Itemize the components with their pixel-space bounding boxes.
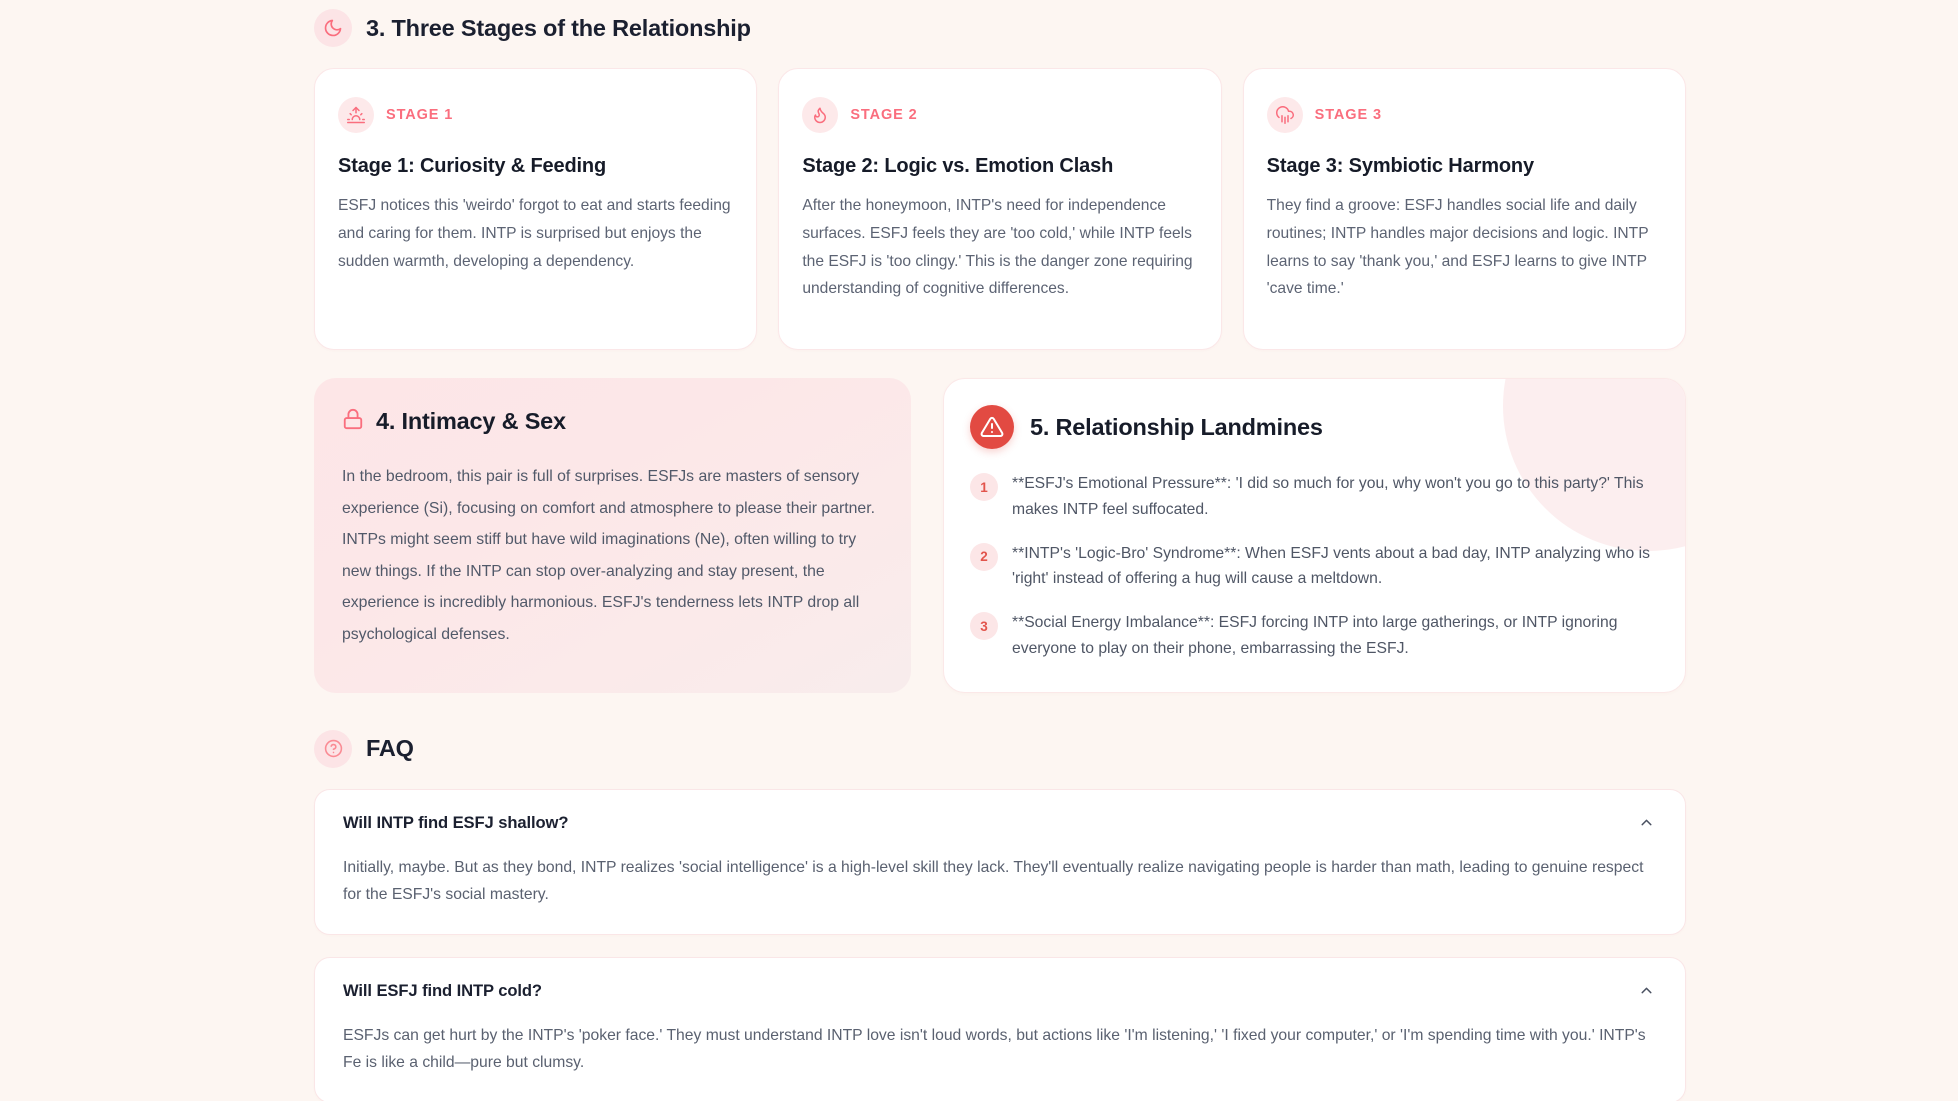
landmine-item: 1 **ESFJ's Emotional Pressure**: 'I did … <box>970 471 1655 523</box>
stage-3-body: They find a groove: ESFJ handles social … <box>1267 192 1662 303</box>
moon-icon <box>314 9 352 47</box>
faq-answer: Initially, maybe. But as they bond, INTP… <box>343 854 1657 908</box>
landmine-item: 2 **INTP's 'Logic-Bro' Syndrome**: When … <box>970 541 1655 593</box>
stage-2-tag: STAGE 2 <box>802 97 1197 133</box>
intimacy-card: 4. Intimacy & Sex In the bedroom, this p… <box>314 378 911 693</box>
stage-1-label: STAGE 1 <box>386 107 453 123</box>
stage-2-title: Stage 2: Logic vs. Emotion Clash <box>802 155 1197 178</box>
stage-card-2: STAGE 2 Stage 2: Logic vs. Emotion Clash… <box>778 68 1221 350</box>
sunrise-icon <box>338 97 374 133</box>
stage-2-body: After the honeymoon, INTP's need for ind… <box>802 192 1197 303</box>
stage-1-body: ESFJ notices this 'weirdo' forgot to eat… <box>338 192 733 275</box>
faq-list: Will INTP find ESFJ shallow? Initially, … <box>314 789 1686 1101</box>
flame-icon <box>802 97 838 133</box>
intimacy-title: 4. Intimacy & Sex <box>376 408 566 435</box>
lock-icon <box>342 408 364 435</box>
stage-card-1: STAGE 1 Stage 1: Curiosity & Feeding ESF… <box>314 68 757 350</box>
faq-question: Will ESFJ find INTP cold? <box>343 981 542 1001</box>
stage-1-title: Stage 1: Curiosity & Feeding <box>338 155 733 178</box>
landmine-number-badge: 2 <box>970 543 998 571</box>
stage-3-label: STAGE 3 <box>1315 107 1382 123</box>
stage-card-3: STAGE 3 Stage 3: Symbiotic Harmony They … <box>1243 68 1686 350</box>
landmines-card: 5. Relationship Landmines 1 **ESFJ's Emo… <box>943 378 1686 693</box>
landmine-item: 3 **Social Energy Imbalance**: ESFJ forc… <box>970 610 1655 662</box>
landmine-text: **ESFJ's Emotional Pressure**: 'I did so… <box>1012 471 1655 523</box>
faq-section-header: FAQ <box>314 721 1686 777</box>
faq-item[interactable]: Will INTP find ESFJ shallow? Initially, … <box>314 789 1686 935</box>
stages-section-header: 3. Three Stages of the Relationship <box>314 0 1686 56</box>
stage-3-tag: STAGE 3 <box>1267 97 1662 133</box>
intimacy-header: 4. Intimacy & Sex <box>342 408 883 435</box>
intimacy-body: In the bedroom, this pair is full of sur… <box>342 461 883 651</box>
chevron-up-icon[interactable] <box>1635 980 1657 1002</box>
alert-triangle-icon <box>970 405 1014 449</box>
stage-1-tag: STAGE 1 <box>338 97 733 133</box>
cloud-rain-icon <box>1267 97 1303 133</box>
help-circle-icon <box>314 730 352 768</box>
stage-2-label: STAGE 2 <box>850 107 917 123</box>
chevron-up-icon[interactable] <box>1635 812 1657 834</box>
content-container: 3. Three Stages of the Relationship STAG… <box>314 0 1686 1101</box>
landmine-number-badge: 1 <box>970 473 998 501</box>
faq-item[interactable]: Will ESFJ find INTP cold? ESFJs can get … <box>314 957 1686 1101</box>
landmine-number-badge: 3 <box>970 612 998 640</box>
stage-card-grid: STAGE 1 Stage 1: Curiosity & Feeding ESF… <box>314 68 1686 350</box>
landmines-header: 5. Relationship Landmines <box>970 405 1655 449</box>
faq-answer: ESFJs can get hurt by the INTP's 'poker … <box>343 1022 1657 1076</box>
page-root: 3. Three Stages of the Relationship STAG… <box>0 0 1958 1101</box>
faq-question-row[interactable]: Will ESFJ find INTP cold? <box>343 980 1657 1002</box>
faq-question-row[interactable]: Will INTP find ESFJ shallow? <box>343 812 1657 834</box>
page-title: 3. Three Stages of the Relationship <box>366 15 751 42</box>
landmine-text: **Social Energy Imbalance**: ESFJ forcin… <box>1012 610 1655 662</box>
stage-3-title: Stage 3: Symbiotic Harmony <box>1267 155 1662 178</box>
faq-title: FAQ <box>366 735 414 762</box>
faq-question: Will INTP find ESFJ shallow? <box>343 813 568 833</box>
landmines-title: 5. Relationship Landmines <box>1030 414 1323 441</box>
landmine-text: **INTP's 'Logic-Bro' Syndrome**: When ES… <box>1012 541 1655 593</box>
mid-row: 4. Intimacy & Sex In the bedroom, this p… <box>314 378 1686 693</box>
